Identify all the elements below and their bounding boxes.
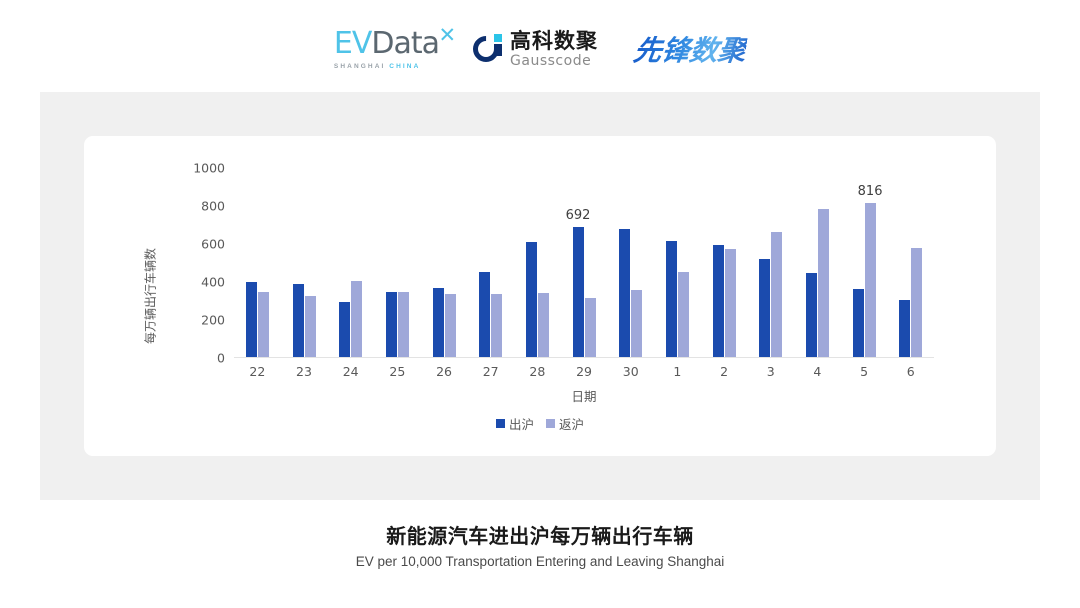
x-tick-24: 24 <box>327 364 374 379</box>
x-tick-23: 23 <box>281 364 328 379</box>
gausscode-c-mark-icon <box>473 34 503 64</box>
bar-返沪-23[interactable] <box>305 296 316 358</box>
x-axis-title: 日期 <box>234 386 934 405</box>
x-mark-icon: ✕ <box>438 25 455 46</box>
bar-group <box>887 168 934 358</box>
bar-返沪-22[interactable] <box>258 292 269 358</box>
bar-group <box>794 168 841 358</box>
chart-legend: 出沪返沪 <box>84 414 996 433</box>
bar-返沪-6[interactable] <box>911 248 922 358</box>
bar-group <box>701 168 748 358</box>
figure-caption: 新能源汽车进出沪每万辆出行车辆 EV per 10,000 Transporta… <box>0 520 1080 569</box>
x-axis-labels: 222324252627282930123456 <box>234 364 934 379</box>
bar-group <box>421 168 468 358</box>
bar-返沪-29[interactable] <box>585 298 596 358</box>
bar-groups: 692816 <box>234 168 934 358</box>
bar-value-label: 816 <box>858 184 883 199</box>
caption-cn: 新能源汽车进出沪每万辆出行车辆 <box>0 520 1080 549</box>
evdata-subtitle: SHANGHAI CHINA <box>334 63 420 70</box>
x-tick-27: 27 <box>467 364 514 379</box>
evdata-wordmark: EVData ✕ <box>334 29 439 59</box>
x-tick-6: 6 <box>887 364 934 379</box>
legend-item-出沪[interactable]: 出沪 <box>496 414 534 433</box>
bar-出沪-3[interactable] <box>759 259 770 358</box>
bar-返沪-26[interactable] <box>445 294 456 358</box>
bar-group <box>234 168 281 358</box>
bar-返沪-28[interactable] <box>538 293 549 358</box>
chart-panel: 每万辆出行车辆数 10008006004002000 692816 222324… <box>40 92 1040 500</box>
bar-返沪-3[interactable] <box>771 232 782 358</box>
bar-group <box>747 168 794 358</box>
bar-group <box>327 168 374 358</box>
legend-item-返沪[interactable]: 返沪 <box>546 414 584 433</box>
bar-group <box>281 168 328 358</box>
bar-返沪-30[interactable] <box>631 290 642 358</box>
logo-gausscode: 高科数聚 Gausscode <box>473 31 598 68</box>
bar-group <box>374 168 421 358</box>
y-tick-200: 200 <box>201 313 234 328</box>
bar-出沪-25[interactable] <box>386 292 397 359</box>
bar-出沪-2[interactable] <box>713 245 724 358</box>
x-axis-line <box>234 357 934 359</box>
chart-card: 每万辆出行车辆数 10008006004002000 692816 222324… <box>84 136 996 456</box>
bar-返沪-24[interactable] <box>351 281 362 358</box>
bar-出沪-29[interactable]: 692 <box>573 227 584 358</box>
y-axis-title: 每万辆出行车辆数 <box>142 248 159 344</box>
x-tick-29: 29 <box>561 364 608 379</box>
evdata-prefix: EV <box>334 29 371 59</box>
evdata-suffix: Data <box>371 29 439 59</box>
bar-返沪-25[interactable] <box>398 292 409 358</box>
y-tick-600: 600 <box>201 237 234 252</box>
bar-出沪-23[interactable] <box>293 284 304 358</box>
x-tick-30: 30 <box>607 364 654 379</box>
caption-en: EV per 10,000 Transportation Entering an… <box>0 554 1080 569</box>
bar-group: 816 <box>841 168 888 358</box>
bar-返沪-5[interactable]: 816 <box>865 203 876 358</box>
bar-group <box>514 168 561 358</box>
y-tick-0: 0 <box>217 351 234 366</box>
bar-出沪-30[interactable] <box>619 229 630 358</box>
x-tick-25: 25 <box>374 364 421 379</box>
bar-chart: 每万辆出行车辆数 10008006004002000 692816 222324… <box>84 136 996 456</box>
x-tick-5: 5 <box>841 364 888 379</box>
bar-出沪-5[interactable] <box>853 289 864 358</box>
bar-出沪-28[interactable] <box>526 242 537 358</box>
bar-出沪-26[interactable] <box>433 288 444 358</box>
bar-出沪-22[interactable] <box>246 282 257 358</box>
y-tick-400: 400 <box>201 275 234 290</box>
gausscode-cn-name: 高科数聚 <box>510 31 598 52</box>
x-tick-2: 2 <box>701 364 748 379</box>
bar-出沪-1[interactable] <box>666 241 677 358</box>
bar-group <box>654 168 701 358</box>
bar-group <box>467 168 514 358</box>
bar-group: 692 <box>561 168 608 358</box>
x-tick-1: 1 <box>654 364 701 379</box>
bar-出沪-4[interactable] <box>806 273 817 358</box>
bar-出沪-24[interactable] <box>339 302 350 358</box>
x-tick-22: 22 <box>234 364 281 379</box>
evdata-sub-country: CHINA <box>389 63 420 70</box>
legend-label: 返沪 <box>559 414 584 433</box>
logo-bar: EVData ✕ SHANGHAI CHINA 高科数聚 Gausscode 先… <box>0 0 1080 92</box>
y-tick-800: 800 <box>201 199 234 214</box>
bar-返沪-1[interactable] <box>678 272 689 358</box>
x-tick-4: 4 <box>794 364 841 379</box>
bar-value-label: 692 <box>566 208 591 223</box>
legend-label: 出沪 <box>509 414 534 433</box>
y-tick-1000: 1000 <box>193 161 234 176</box>
evdata-sub-city: SHANGHAI <box>334 63 389 70</box>
bar-返沪-4[interactable] <box>818 209 829 358</box>
bar-出沪-27[interactable] <box>479 272 490 358</box>
bar-返沪-27[interactable] <box>491 294 502 358</box>
plot-area: 10008006004002000 692816 <box>234 168 934 358</box>
bar-出沪-6[interactable] <box>899 300 910 358</box>
logo-evdata: EVData ✕ SHANGHAI CHINA <box>334 29 439 70</box>
x-tick-3: 3 <box>747 364 794 379</box>
logo-xianfeng: 先锋数聚 <box>631 29 749 69</box>
gausscode-en-name: Gausscode <box>510 54 598 68</box>
x-tick-26: 26 <box>421 364 468 379</box>
legend-swatch-icon <box>496 419 505 428</box>
bar-返沪-2[interactable] <box>725 249 736 358</box>
legend-swatch-icon <box>546 419 555 428</box>
bar-group <box>607 168 654 358</box>
x-tick-28: 28 <box>514 364 561 379</box>
